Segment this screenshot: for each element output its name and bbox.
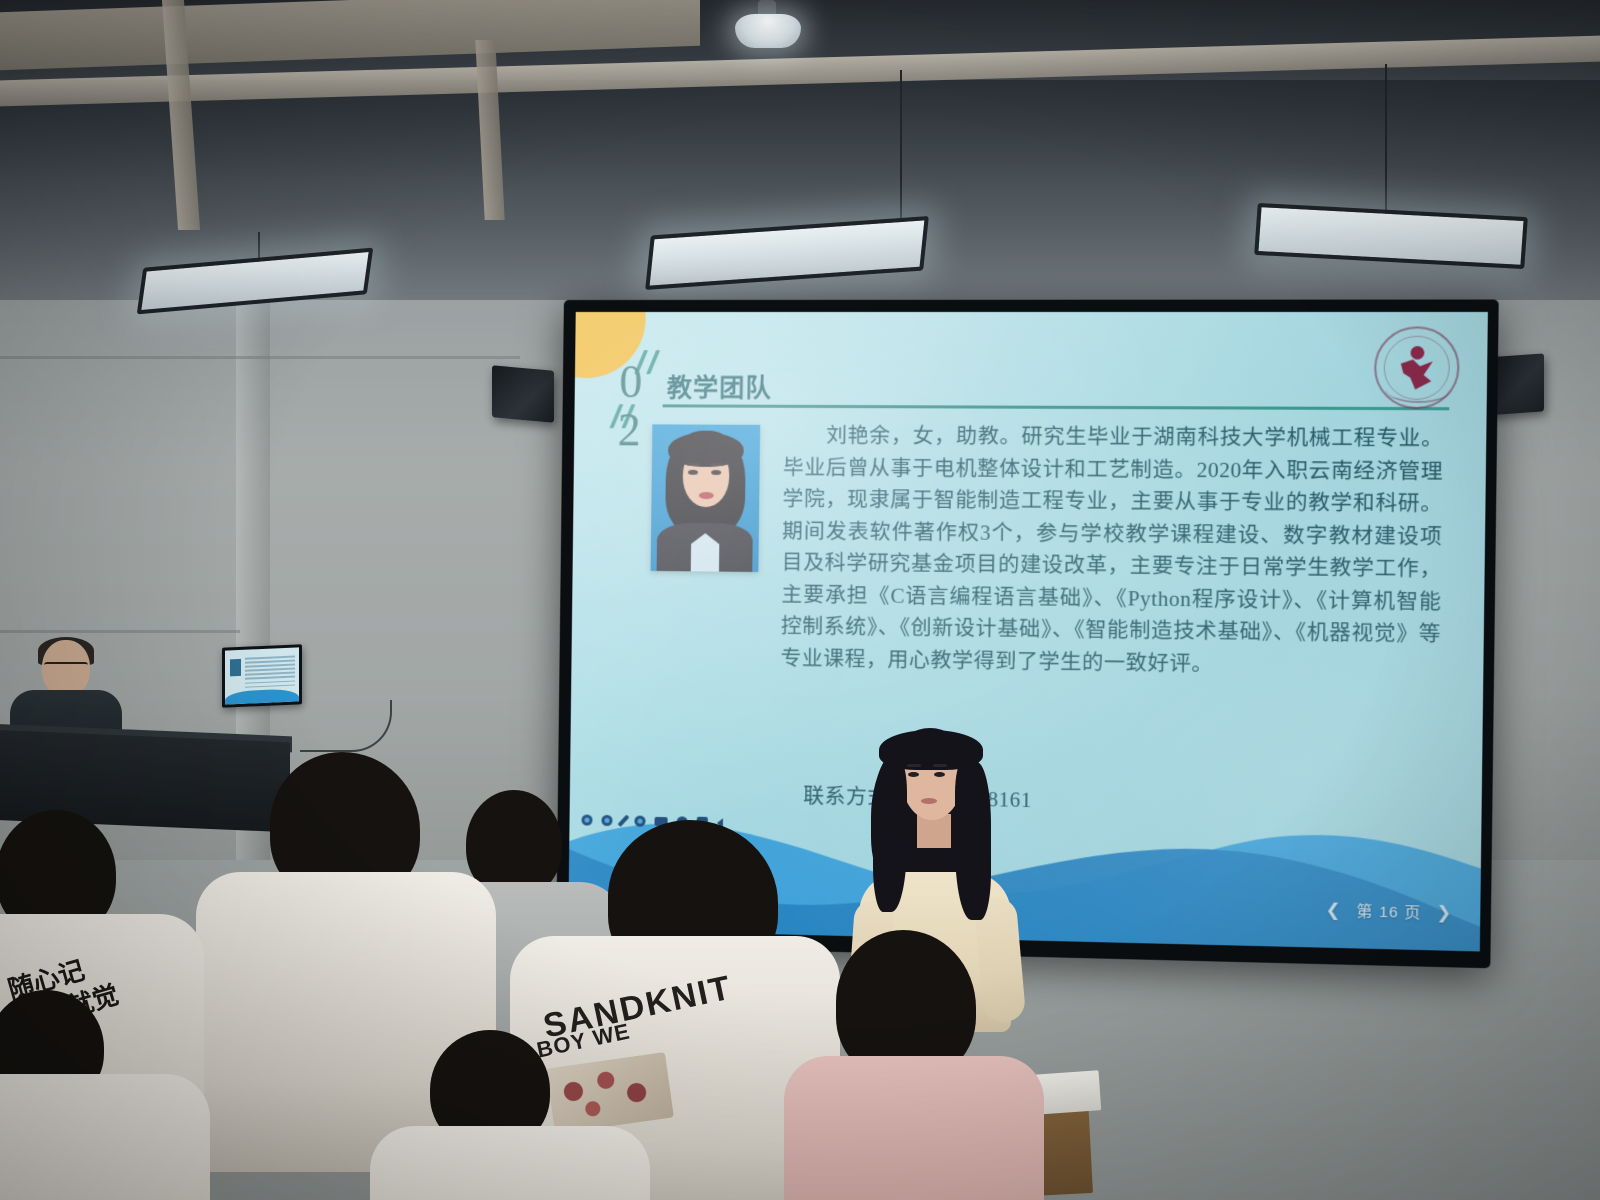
section-number-top: 0 bbox=[619, 356, 643, 407]
light-wire bbox=[1385, 64, 1387, 214]
student bbox=[400, 1030, 640, 1200]
instructor-bio-text: 刘艳余，女，助教。研究生毕业于湖南科技大学机械工程专业。毕业后曾从事于电机整体设… bbox=[780, 421, 1443, 685]
glasses-icon bbox=[44, 662, 88, 671]
portrait-fringe bbox=[668, 432, 744, 467]
emblem-arc bbox=[1385, 376, 1451, 403]
student-torso bbox=[784, 1056, 1044, 1200]
dome-light-icon bbox=[735, 14, 801, 48]
wall-preview-monitor bbox=[222, 644, 302, 707]
school-emblem-icon bbox=[1374, 326, 1460, 409]
student-torso bbox=[0, 1074, 210, 1200]
portrait-eye bbox=[711, 470, 721, 475]
preview-wave bbox=[225, 688, 299, 704]
wall-seam bbox=[0, 356, 520, 359]
student-torso bbox=[370, 1126, 650, 1200]
classroom-scene: 0 2 教学团队 bbox=[0, 0, 1600, 1200]
slide-title: 教学团队 bbox=[667, 368, 772, 405]
section-number-bottom: 2 bbox=[600, 408, 659, 452]
bio-paragraph: 刘艳余，女，助教。研究生毕业于湖南科技大学机械工程专业。毕业后曾从事于电机整体设… bbox=[780, 425, 1443, 675]
audience-rows: 随心记想想就觉一眼觉 SANDKNIT BOY WE bbox=[0, 730, 1600, 1200]
student bbox=[0, 990, 200, 1200]
wall-speaker-left bbox=[492, 365, 554, 422]
student bbox=[800, 930, 1040, 1200]
student bbox=[236, 752, 466, 1052]
portrait-brow bbox=[687, 463, 700, 466]
preview-portrait bbox=[230, 659, 241, 676]
portrait-brow bbox=[710, 463, 723, 466]
preview-text-lines bbox=[245, 656, 295, 691]
section-number: 0 2 bbox=[602, 360, 659, 452]
preview-screen bbox=[225, 647, 299, 704]
emblem-head bbox=[1410, 346, 1424, 359]
portrait-lips bbox=[699, 492, 714, 499]
light-wire bbox=[900, 70, 902, 230]
title-underline bbox=[663, 404, 1450, 410]
instructor-portrait bbox=[651, 424, 761, 572]
wall-seam bbox=[0, 630, 240, 633]
portrait-eye bbox=[688, 470, 698, 475]
